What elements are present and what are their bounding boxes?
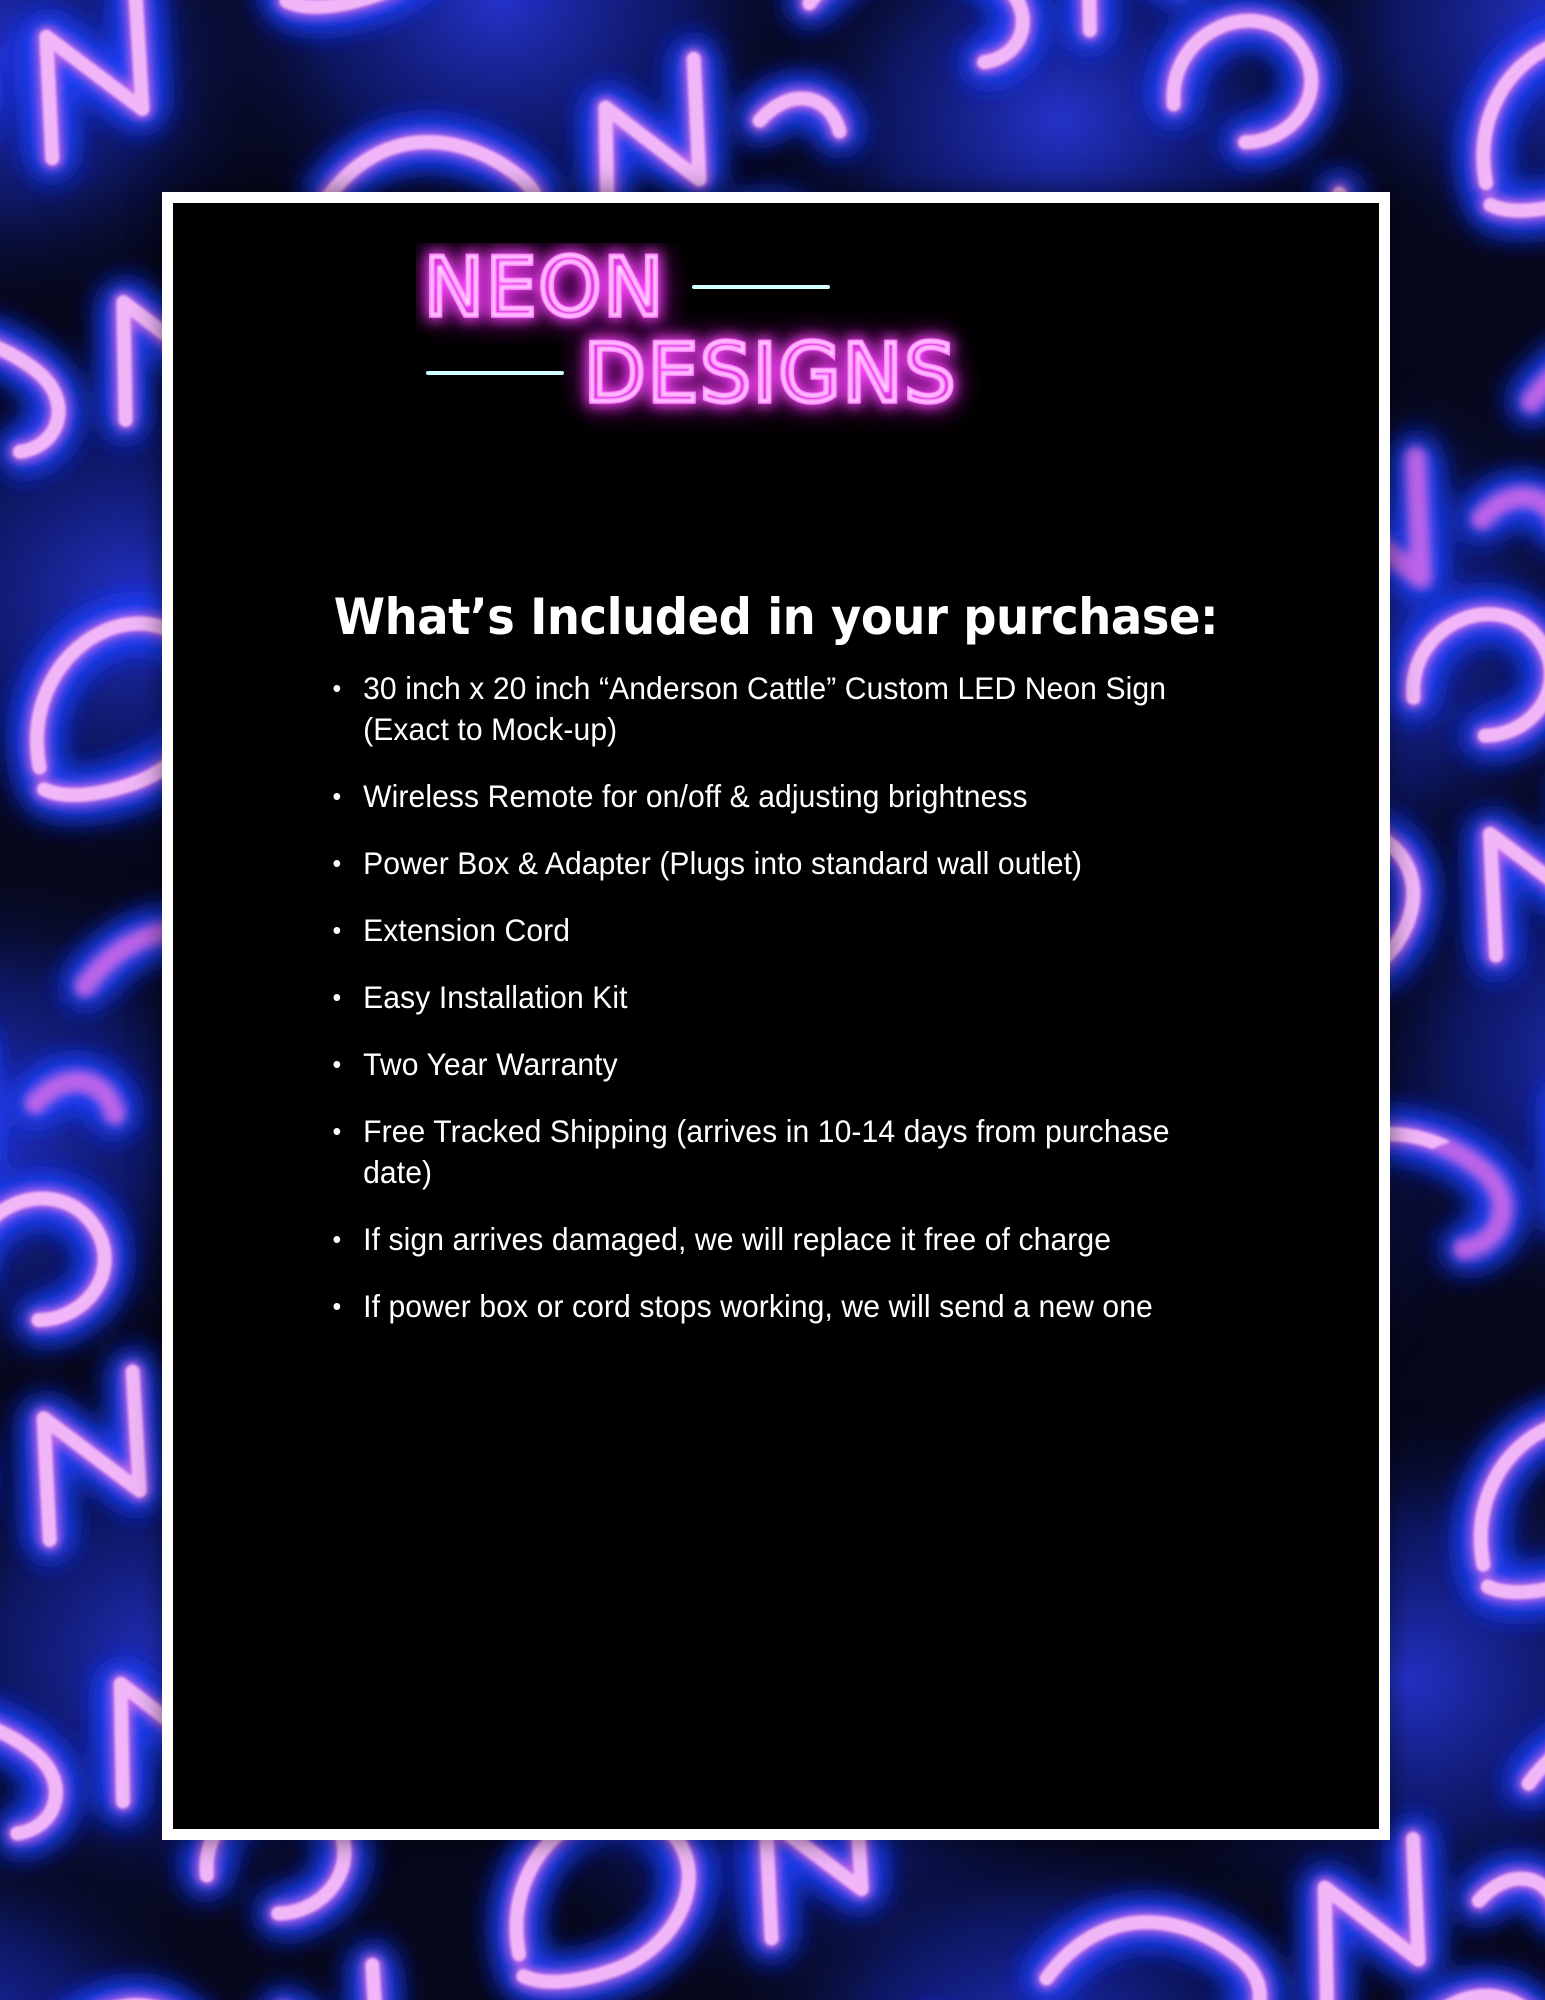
list-item: • Extension Cord [323,910,1211,951]
bullet-icon: • [333,668,342,709]
logo-word-neon: NEON NEON NEON NEON [424,243,665,334]
list-item-label: Wireless Remote for on/off & adjusting b… [363,778,1028,814]
content-card: NEON NEON NEON NEON [173,203,1379,1829]
bullet-icon: • [333,977,342,1018]
bullet-icon: • [333,1111,342,1152]
list-item-label: Free Tracked Shipping (arrives in 10-14 … [363,1113,1169,1190]
list-item: • Wireless Remote for on/off & adjusting… [323,776,1211,817]
svg-text:NEON: NEON [424,243,665,334]
list-item-label: Easy Installation Kit [363,979,628,1015]
list-item-label: If sign arrives damaged, we will replace… [363,1221,1111,1257]
list-item-label: Extension Cord [363,912,570,948]
list-item: • Easy Installation Kit [323,977,1211,1018]
list-item: • 30 inch x 20 inch “Anderson Cattle” Cu… [323,668,1211,750]
page-root: NEON NEON NEON NEON [0,0,1545,2000]
list-item-label: If power box or cord stops working, we w… [363,1288,1153,1324]
list-item: • Free Tracked Shipping (arrives in 10-1… [323,1111,1211,1193]
list-item-label: Power Box & Adapter (Plugs into standard… [363,845,1082,881]
bullet-icon: • [333,843,342,884]
page-title: What’s Included in your purchase: [215,588,1337,646]
list-item: • If sign arrives damaged, we will repla… [323,1219,1211,1260]
bullet-icon: • [333,1286,342,1327]
bullet-icon: • [333,910,342,951]
list-item-label: Two Year Warranty [363,1046,618,1082]
list-item: • Power Box & Adapter (Plugs into standa… [323,843,1211,884]
list-item: • If power box or cord stops working, we… [323,1286,1211,1327]
included-items-list: • 30 inch x 20 inch “Anderson Cattle” Cu… [323,668,1253,1353]
list-item-label: 30 inch x 20 inch “Anderson Cattle” Cust… [363,670,1166,747]
bullet-icon: • [333,1219,342,1260]
svg-text:DESIGNS: DESIGNS [584,327,957,420]
list-item: • Two Year Warranty [323,1044,1211,1085]
bullet-icon: • [333,1044,342,1085]
neon-designs-logo: NEON NEON NEON NEON [173,243,1379,458]
content-card-frame: NEON NEON NEON NEON [162,192,1390,1840]
bullet-icon: • [333,776,342,817]
logo-word-designs: DESIGNS DESIGNS DESIGNS DESIGNS [584,327,957,420]
